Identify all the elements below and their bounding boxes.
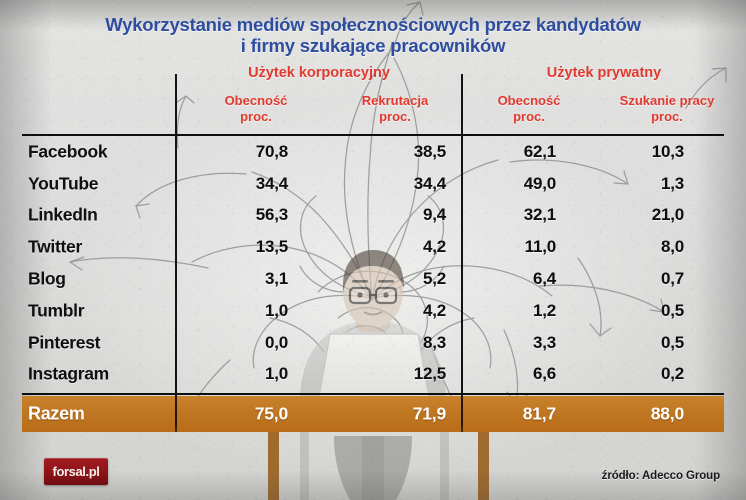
cell-corporate-recruitment: 12,5	[346, 364, 446, 384]
total-divider-right	[461, 396, 463, 432]
page-title-line-1: Wykorzystanie mediów społecznościowych p…	[0, 14, 746, 35]
row-label: Tumblr	[28, 300, 84, 321]
column-header-unit: proc.	[330, 109, 460, 125]
table-row: LinkedIn 56,3 9,4 32,1 21,0	[0, 200, 746, 232]
group-header-corporate: Użytek korporacyjny	[176, 65, 462, 81]
table-row: Pinterest 0,0 8,3 3,3 0,5	[0, 327, 746, 359]
table-row: Facebook 70,8 38,5 62,1 10,3	[0, 136, 746, 168]
cell-private-presence: 49,0	[472, 174, 556, 194]
cell-corporate-recruitment: 4,2	[346, 237, 446, 257]
group-header-private: Użytek prywatny	[462, 65, 746, 81]
table-row: Tumblr 1,0 4,2 1,2 0,5	[0, 295, 746, 327]
cell-private-presence: 1,2	[472, 301, 556, 321]
total-divider-left	[175, 396, 177, 432]
cell-corporate-recruitment: 38,5	[346, 142, 446, 162]
forsal-logo[interactable]: forsal.pl	[44, 458, 108, 485]
cell-private-presence: 62,1	[472, 142, 556, 162]
page-title-line-2: i firmy szukające pracowników	[0, 35, 746, 56]
row-label: YouTube	[28, 173, 98, 194]
cell-private-jobsearch: 0,7	[600, 269, 684, 289]
column-header-name: Obecność	[470, 93, 588, 109]
table-body: Facebook 70,8 38,5 62,1 10,3 YouTube 34,…	[0, 136, 746, 390]
cell-corporate-recruitment: 8,3	[346, 333, 446, 353]
cell-private-jobsearch: 0,5	[600, 333, 684, 353]
cell-private-presence: 11,0	[472, 237, 556, 257]
cell-corporate-recruitment: 5,2	[346, 269, 446, 289]
cell-private-jobsearch: 10,3	[600, 142, 684, 162]
infographic-canvas: Wykorzystanie mediów społecznościowych p…	[0, 0, 746, 500]
cell-corporate-recruitment: 34,4	[346, 174, 446, 194]
column-header-unit: proc.	[470, 109, 588, 125]
forsal-logo-text: forsal.pl	[53, 465, 100, 478]
column-header-name: Szukanie pracy	[592, 93, 742, 109]
cell-private-jobsearch: 1,3	[600, 174, 684, 194]
column-header-corporate-presence: Obecność proc.	[186, 93, 326, 125]
column-header-unit: proc.	[592, 109, 742, 125]
cell-corporate-presence: 1,0	[188, 364, 288, 384]
page-title: Wykorzystanie mediów społecznościowych p…	[0, 14, 746, 56]
cell-corporate-presence: 34,4	[188, 174, 288, 194]
column-header-name: Obecność	[186, 93, 326, 109]
total-corporate-presence: 75,0	[188, 404, 288, 425]
table-row: Instagram 1,0 12,5 6,6 0,2	[0, 359, 746, 391]
table-row: YouTube 34,4 34,4 49,0 1,3	[0, 168, 746, 200]
source-attribution: źródło: Adecco Group	[602, 470, 720, 482]
cell-private-presence: 32,1	[472, 205, 556, 225]
total-row: Razem 75,0 71,9 81,7 88,0	[0, 396, 746, 432]
cell-corporate-presence: 1,0	[188, 301, 288, 321]
cell-corporate-presence: 0,0	[188, 333, 288, 353]
row-label: Blog	[28, 269, 66, 290]
cell-corporate-presence: 13,5	[188, 237, 288, 257]
cell-corporate-recruitment: 9,4	[346, 205, 446, 225]
cell-corporate-recruitment: 4,2	[346, 301, 446, 321]
cell-private-jobsearch: 21,0	[600, 205, 684, 225]
table-row: Blog 3,1 5,2 6,4 0,7	[0, 263, 746, 295]
row-label: Pinterest	[28, 332, 100, 353]
table-row: Twitter 13,5 4,2 11,0 8,0	[0, 231, 746, 263]
cell-private-presence: 6,4	[472, 269, 556, 289]
total-private-jobsearch: 88,0	[600, 404, 684, 425]
column-header-corporate-recruitment: Rekrutacja proc.	[330, 93, 460, 125]
column-header-private-jobsearch: Szukanie pracy proc.	[592, 93, 742, 125]
cell-corporate-presence: 70,8	[188, 142, 288, 162]
cell-private-jobsearch: 0,2	[600, 364, 684, 384]
total-label: Razem	[28, 404, 85, 425]
column-header-name: Rekrutacja	[330, 93, 460, 109]
row-label: Facebook	[28, 141, 107, 162]
row-label: LinkedIn	[28, 205, 98, 226]
cell-corporate-presence: 56,3	[188, 205, 288, 225]
column-header-unit: proc.	[186, 109, 326, 125]
cell-private-jobsearch: 8,0	[600, 237, 684, 257]
total-corporate-recruitment: 71,9	[346, 404, 446, 425]
total-private-presence: 81,7	[472, 404, 556, 425]
cell-private-presence: 3,3	[472, 333, 556, 353]
row-label: Instagram	[28, 364, 109, 385]
cell-private-presence: 6,6	[472, 364, 556, 384]
cell-private-jobsearch: 0,5	[600, 301, 684, 321]
column-header-private-presence: Obecność proc.	[470, 93, 588, 125]
row-label: Twitter	[28, 237, 82, 258]
cell-corporate-presence: 3,1	[188, 269, 288, 289]
